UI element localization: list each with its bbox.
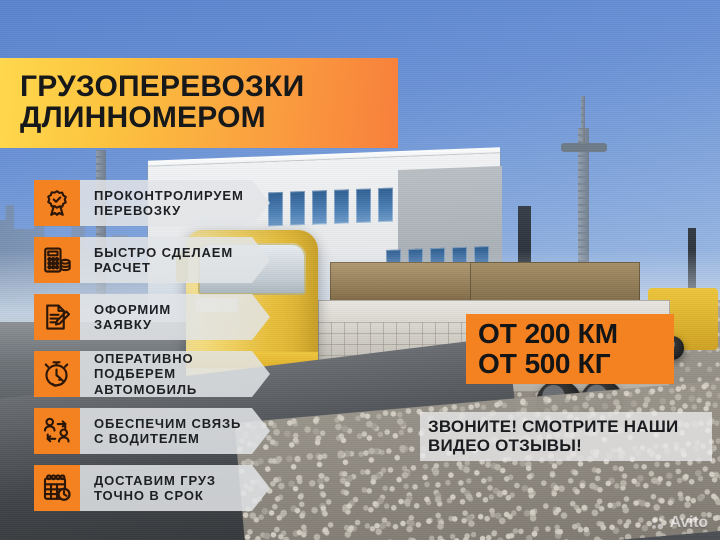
distance-unit: КМ [578, 318, 618, 349]
feature-label: ОФОРМИМ ЗАЯВКУ [94, 302, 171, 333]
feature-band: ОПЕРАТИВНО ПОДБЕРЕМ АВТОМОБИЛЬ [80, 351, 270, 397]
feature-band: БЫСТРО СДЕЛАЕМ РАСЧЕТ [80, 237, 270, 283]
award-medal-icon [34, 180, 80, 226]
feature-item-fast-quote[interactable]: БЫСТРО СДЕЛАЕМ РАСЧЕТ [34, 237, 270, 283]
cta-line-1: ЗВОНИТЕ! СМОТРИТЕ НАШИ [428, 417, 704, 436]
calendar-clock-icon [34, 465, 80, 511]
minimum-distance-line: ОТ 200 КМ [478, 319, 674, 349]
feature-band: ДОСТАВИМ ГРУЗ ТОЧНО В СРОК [80, 465, 270, 511]
feature-item-on-time-delivery[interactable]: ДОСТАВИМ ГРУЗ ТОЧНО В СРОК [34, 465, 270, 511]
weight-unit: КГ [578, 348, 611, 379]
headline-banner: ГРУЗОПЕРЕВОЗКИ ДЛИННОМЕРОМ [0, 58, 398, 148]
feature-item-driver-contact[interactable]: ОБЕСПЕЧИМ СВЯЗЬ С ВОДИТЕЛЕМ [34, 408, 270, 454]
document-pen-icon [34, 294, 80, 340]
feature-item-control-shipment[interactable]: ПРОКОНТРОЛИРУЕМ ПЕРЕВОЗКУ [34, 180, 270, 226]
feature-list: ПРОКОНТРОЛИРУЕМ ПЕРЕВОЗКУ БЫСТРО СДЕЛАЕМ… [34, 180, 270, 511]
avito-watermark: Avito [650, 514, 708, 532]
minimum-terms-box: ОТ 200 КМ ОТ 500 КГ [466, 314, 674, 384]
two-people-icon [34, 408, 80, 454]
feature-band: ПРОКОНТРОЛИРУЕМ ПЕРЕВОЗКУ [80, 180, 270, 226]
antenna-spire [581, 96, 585, 144]
advertisement-poster: ГРУЗОПЕРЕВОЗКИ ДЛИННОМЕРОМ ПРОКОНТРОЛИРУ… [0, 0, 720, 540]
feature-label: ОБЕСПЕЧИМ СВЯЗЬ С ВОДИТЕЛЕМ [94, 416, 241, 447]
call-to-action: ЗВОНИТЕ! СМОТРИТЕ НАШИ ВИДЕО ОТЗЫВЫ! [420, 412, 712, 461]
minimum-weight-line: ОТ 500 КГ [478, 349, 674, 379]
feature-band: ОБЕСПЕЧИМ СВЯЗЬ С ВОДИТЕЛЕМ [80, 408, 270, 454]
cta-line-2: ВИДЕО ОТЗЫВЫ! [428, 436, 704, 455]
feature-label: ОПЕРАТИВНО ПОДБЕРЕМ АВТОМОБИЛЬ [94, 351, 197, 397]
feature-item-process-order[interactable]: ОФОРМИМ ЗАЯВКУ [34, 294, 270, 340]
feature-label: ПРОКОНТРОЛИРУЕМ ПЕРЕВОЗКУ [94, 188, 244, 219]
distance-prefix: ОТ [478, 318, 517, 349]
avito-watermark-text: Avito [670, 514, 708, 532]
weight-prefix: ОТ [478, 348, 517, 379]
feature-band: ОФОРМИМ ЗАЯВКУ [80, 294, 270, 340]
feature-label: ДОСТАВИМ ГРУЗ ТОЧНО В СРОК [94, 473, 216, 504]
calculator-icon [34, 237, 80, 283]
feature-item-select-vehicle[interactable]: ОПЕРАТИВНО ПОДБЕРЕМ АВТОМОБИЛЬ [34, 351, 270, 397]
distance-value: 200 [525, 318, 570, 349]
headline-line-1: ГРУЗОПЕРЕВОЗКИ [20, 72, 398, 103]
antenna-platform [561, 143, 607, 152]
building-window-row-upper [268, 188, 393, 227]
weight-value: 500 [525, 348, 570, 379]
avito-logo-icon [650, 516, 665, 531]
stopwatch-hand-icon [34, 351, 80, 397]
headline-line-2: ДЛИННОМЕРОМ [20, 103, 398, 134]
feature-label: БЫСТРО СДЕЛАЕМ РАСЧЕТ [94, 245, 233, 276]
